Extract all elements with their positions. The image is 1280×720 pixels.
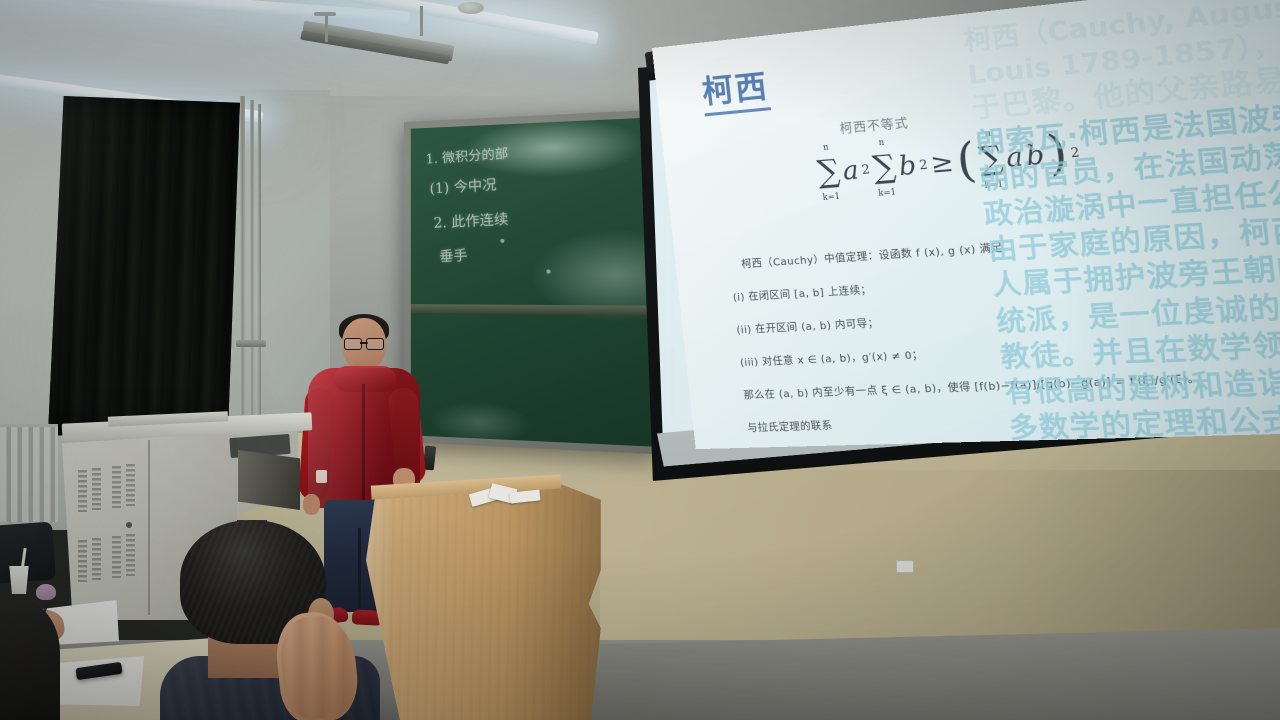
relation-symbol: ≥ (929, 147, 955, 179)
chalk-dot (500, 239, 504, 243)
paper-sheet (510, 489, 541, 503)
term-b: b (897, 150, 918, 182)
console-vent (92, 468, 101, 510)
student-fingers (277, 612, 361, 720)
relation-heading: 与拉氏定理的联系 (746, 416, 833, 434)
light-stem-cap (314, 12, 336, 16)
wall-pipe (240, 96, 245, 426)
projection-screen: 柯西 柯西不等式 ∑ n k=1 a2 ∑ n k=1 b2 ≥ ( ∑ n k… (608, 18, 1280, 488)
pipe-clamp (236, 340, 266, 347)
chalk-text: 2. 此作连续 (433, 208, 509, 232)
console-open-drawer[interactable] (238, 450, 300, 510)
jacket-badge (316, 470, 327, 483)
glasses-icon (344, 338, 384, 348)
presenter-left-hand (303, 494, 320, 515)
console-lock-icon[interactable] (126, 522, 132, 528)
lower-wall-right (600, 470, 1280, 650)
small-pouch (36, 584, 56, 600)
summation-icon: ∑ n k=1 (816, 156, 842, 189)
slide-title: 柯西 (700, 60, 772, 116)
seated-student (150, 520, 380, 720)
console-vent (112, 536, 121, 578)
console-vent (126, 464, 135, 506)
light-stem (325, 14, 328, 42)
chalk-dot (546, 269, 550, 273)
left-paren: ( (955, 141, 978, 180)
cauchy-biography: 柯西（Cauchy, Augustin Louis 1789-1857），出生 … (962, 0, 1280, 449)
wall-pipe (258, 104, 261, 418)
smoke-detector-icon (458, 2, 484, 14)
console-vent (78, 540, 87, 582)
lectern-papers (470, 484, 542, 506)
curtain-sheen (44, 96, 240, 436)
power-socket[interactable] (896, 560, 914, 573)
term-a: a (841, 155, 860, 186)
console-vent (126, 534, 135, 576)
chalk-text: (1) 今中况 (429, 174, 497, 199)
light-stem (420, 6, 423, 36)
wall-pipe (250, 100, 254, 420)
lectern-edge-light (366, 478, 608, 720)
console-vent (92, 538, 101, 580)
console-vent (78, 470, 87, 512)
radiator (0, 424, 58, 522)
summation-icon: ∑ n k=1 (871, 151, 897, 184)
chalk-text: 垂手 (439, 245, 468, 266)
lecture-hall-photo: 1. 微积分的部 (1) 今中况 2. 此作连续 垂手 柯西 柯西不等式 ∑ n… (0, 0, 1280, 720)
paper-cup (8, 566, 30, 594)
projected-slide: 柯西 柯西不等式 ∑ n k=1 a2 ∑ n k=1 b2 ≥ ( ∑ n k… (652, 0, 1280, 449)
student-bag (0, 522, 56, 585)
console-vent (112, 466, 121, 508)
